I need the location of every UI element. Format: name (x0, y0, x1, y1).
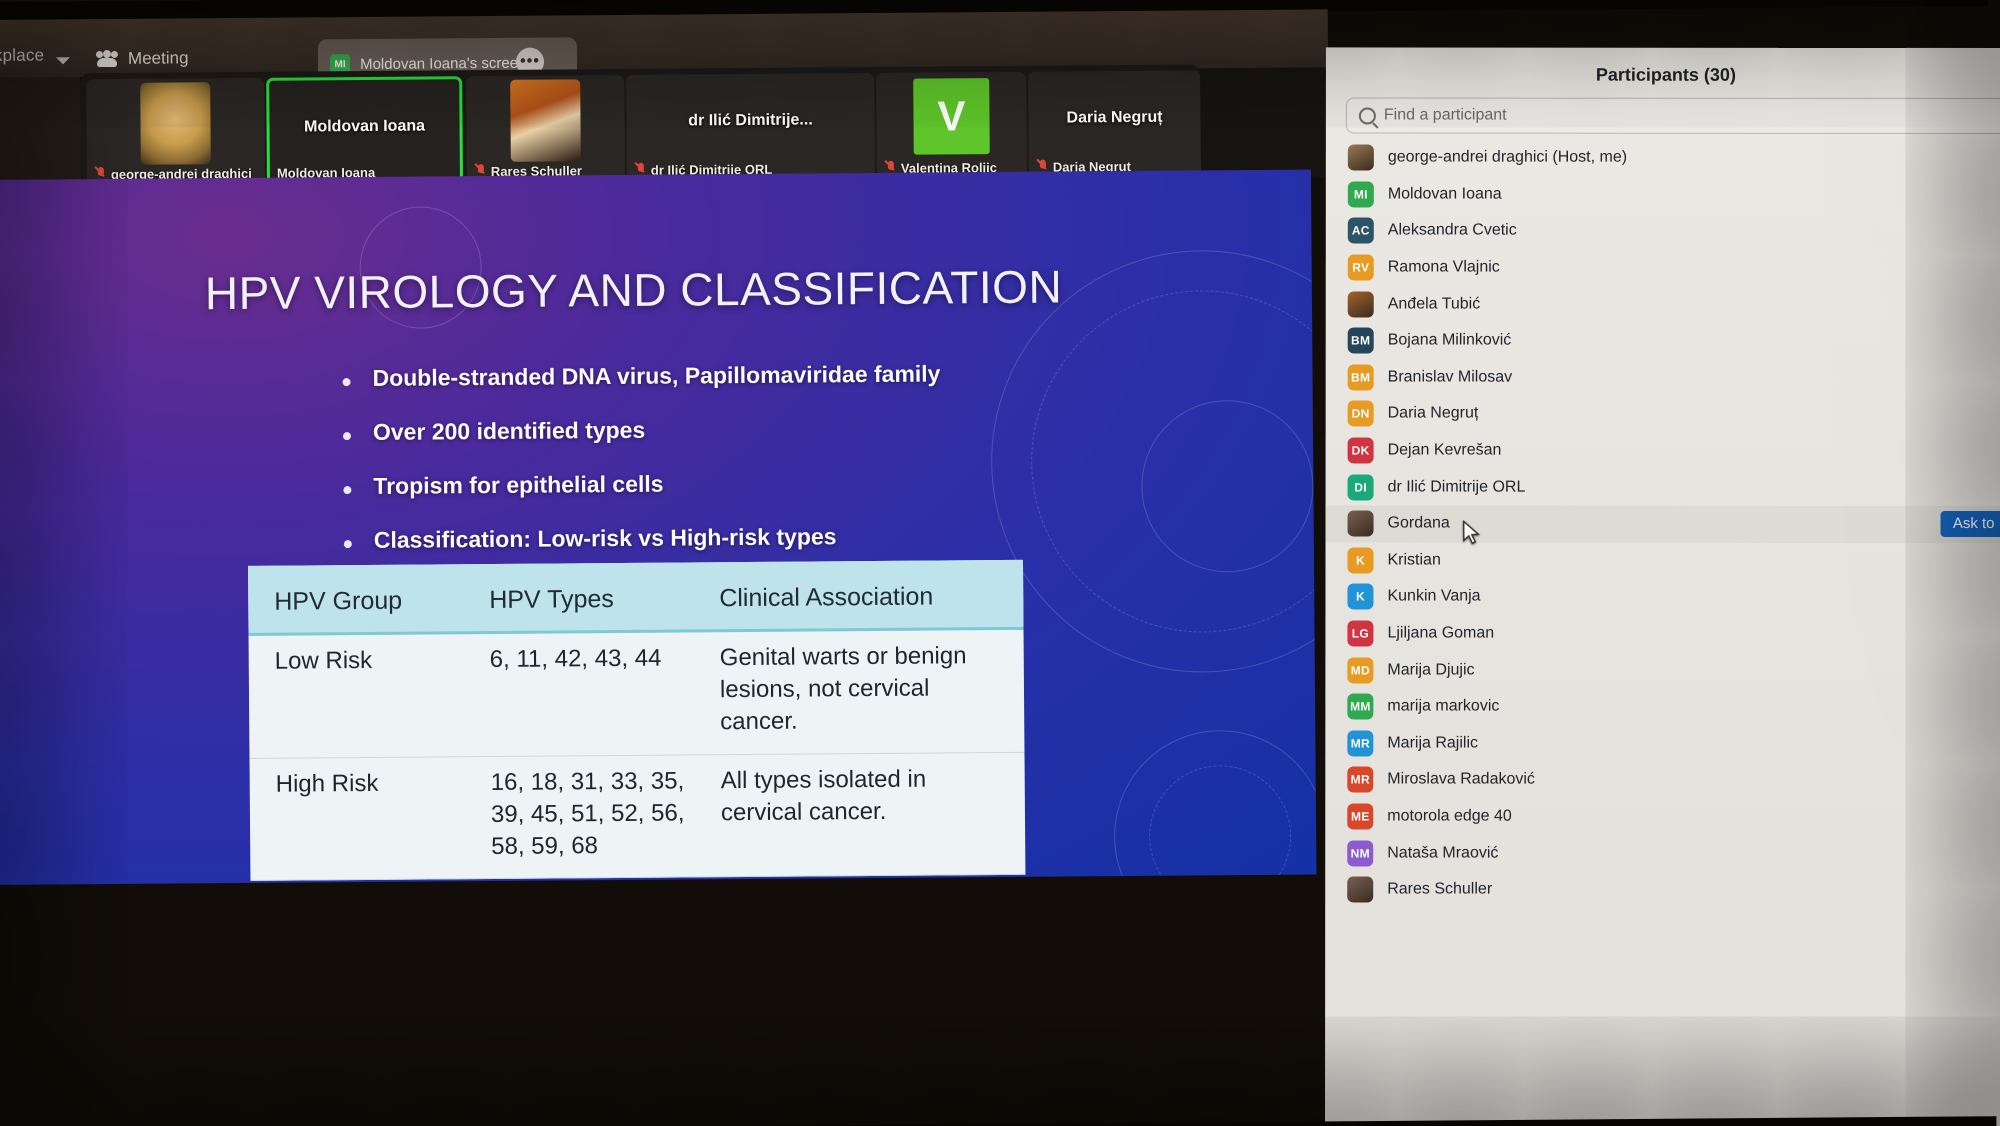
avatar: AC (1348, 218, 1374, 244)
participant-name: marija markovic (1387, 698, 1499, 716)
bullet-text: Tropism for epithelial cells (373, 471, 663, 500)
avatar: DN (1348, 401, 1374, 427)
avatar: LG (1347, 620, 1373, 646)
avatar: MD (1347, 657, 1373, 683)
meeting-tab-label: Meeting (128, 48, 189, 68)
avatar (1348, 145, 1374, 171)
bullet-text: Classification: Low-risk vs High-risk ty… (374, 523, 837, 554)
avatar (1348, 291, 1374, 317)
participant-name: Dejan Kevrešan (1388, 442, 1502, 460)
participant-row[interactable]: BMBranislav Milosav (1326, 359, 2000, 396)
participant-name: Kristian (1387, 551, 1440, 569)
video-tile-center-name: dr Ilić Dimitrije... (626, 111, 874, 131)
participant-name: george-andrei draghici (Host, me) (1388, 149, 1627, 167)
participants-panel: Participants (30) Find a participant geo… (1325, 47, 2000, 1126)
shared-screen-slide: HPV VIROLOGY AND CLASSIFICATION Double-s… (0, 170, 1316, 885)
video-tile-center-name: Moldovan Ioana (269, 117, 459, 136)
participant-row[interactable]: KKunkin Vanja (1325, 579, 2000, 616)
participant-row[interactable]: MIMoldovan Ioana (1326, 176, 2000, 213)
table-header-clinical-association: Clinical Association (719, 582, 997, 613)
participant-name: Kunkin Vanja (1387, 588, 1480, 606)
table-header-hpv-types: HPV Types (489, 584, 719, 615)
strip-right-backdrop (1200, 67, 1331, 178)
meeting-tab[interactable]: Meeting (96, 48, 189, 69)
video-tile-photo (140, 82, 211, 165)
participant-name: Aleksandra Cvetic (1388, 222, 1517, 240)
participant-name: Ljiljana Goman (1387, 624, 1494, 642)
participant-name: Miroslava Radaković (1387, 771, 1535, 789)
avatar: ME (1347, 803, 1373, 829)
table-header-hpv-group: HPV Group (274, 586, 489, 617)
table-header-row: HPV Group HPV Types Clinical Association (248, 560, 1024, 636)
video-tile-photo (510, 79, 581, 162)
participant-name: Marija Rajilic (1387, 734, 1478, 752)
cell-types: 6, 11, 42, 43, 44 (490, 642, 721, 740)
participants-list[interactable]: george-andrei draghici (Host, me)MIMoldo… (1325, 139, 2000, 1126)
participant-row[interactable]: DIdr Ilić Dimitrije ORL (1326, 469, 2000, 506)
participant-row[interactable]: MDMarija Djujic (1325, 652, 2000, 689)
cell-group: High Risk (276, 767, 492, 864)
avatar (1347, 877, 1373, 903)
participant-row[interactable]: KKristian (1325, 542, 2000, 579)
table-row: High Risk 16, 18, 31, 33, 35, 39, 45, 51… (250, 753, 1026, 882)
participant-row[interactable]: ACAleksandra Cvetic (1326, 213, 2000, 250)
bullet-text: Over 200 identified types (373, 417, 645, 446)
slide-bullet-list: Double-stranded DNA virus, Papillomaviri… (342, 360, 942, 581)
avatar: BM (1348, 328, 1374, 354)
participant-row[interactable]: RVRamona Vlajnic (1326, 249, 2000, 286)
strip-left-backdrop (0, 77, 81, 188)
chevron-down-icon[interactable] (56, 57, 70, 64)
bullet-dot (343, 432, 351, 440)
participant-name: dr Ilić Dimitrije ORL (1388, 478, 1526, 496)
cell-association: All types isolated in cervical cancer. (721, 763, 1000, 861)
participant-name: Moldovan Ioana (1388, 185, 1502, 203)
bullet-dot (343, 378, 351, 386)
participant-row[interactable]: LGLjiljana Goman (1325, 615, 2000, 652)
hpv-classification-table: HPV Group HPV Types Clinical Association… (248, 560, 1025, 882)
slide-title: HPV VIROLOGY AND CLASSIFICATION (205, 260, 1063, 321)
video-tile-initial: V (913, 78, 990, 155)
bullet-dot (343, 486, 351, 494)
slide-bullet: Classification: Low-risk vs High-risk ty… (344, 522, 942, 554)
participant-row[interactable]: MEmotorola edge 40 (1325, 798, 2000, 835)
participant-name: motorola edge 40 (1387, 807, 1512, 825)
video-tile-center-name: Daria Negruț (1028, 108, 1200, 127)
avatar: MR (1347, 767, 1373, 793)
participant-row[interactable]: MRMarija Rajilic (1325, 725, 2000, 762)
participant-name: Marija Djujic (1387, 661, 1474, 679)
avatar: MR (1347, 730, 1373, 756)
participant-name: Daria Negruț (1388, 405, 1479, 423)
participant-row[interactable]: MRMiroslava Radaković (1325, 762, 2000, 799)
avatar: RV (1348, 255, 1374, 281)
avatar: K (1347, 547, 1373, 573)
participant-row[interactable]: GordanaAsk to (1326, 505, 2000, 542)
slide-bullet: Over 200 identified types (343, 414, 941, 446)
avatar: BM (1348, 364, 1374, 390)
avatar: MM (1347, 694, 1373, 720)
search-icon (1359, 107, 1376, 124)
avatar: NM (1347, 840, 1373, 866)
bullet-text: Double-stranded DNA virus, Papillomaviri… (372, 360, 940, 391)
participant-row[interactable]: Anđela Tubić (1326, 286, 2000, 323)
avatar: DI (1348, 474, 1374, 500)
bullet-dot (344, 540, 352, 548)
people-icon (96, 51, 118, 67)
slide-bullet: Double-stranded DNA virus, Papillomaviri… (342, 360, 940, 392)
participant-name: Bojana Milinković (1388, 332, 1512, 350)
participant-name: Ramona Vlajnic (1388, 259, 1500, 277)
participant-name: Nataša Mraović (1387, 844, 1498, 862)
cell-types: 16, 18, 31, 33, 35, 39, 45, 51, 52, 56, … (491, 765, 722, 863)
participant-name: Gordana (1388, 515, 1450, 533)
participant-row[interactable]: george-andrei draghici (Host, me) (1326, 139, 2000, 176)
participant-row[interactable]: DKDejan Kevrešan (1326, 432, 2000, 469)
participant-row[interactable]: BMBojana Milinković (1326, 322, 2000, 359)
avatar: MI (1348, 181, 1374, 207)
search-participant-input[interactable]: Find a participant (1346, 97, 2000, 134)
participant-row[interactable]: Rares Schuller (1325, 871, 2000, 908)
ask-to-button[interactable]: Ask to (1941, 511, 2000, 537)
avatar: K (1347, 584, 1373, 610)
participant-row[interactable]: MMmarija markovic (1325, 688, 2000, 725)
participant-name: Anđela Tubić (1388, 295, 1481, 313)
avatar: DK (1348, 437, 1374, 463)
slide-bullet: Tropism for epithelial cells (343, 468, 941, 500)
participant-row[interactable]: DNDaria Negruț (1326, 396, 2000, 433)
hud-circle-inner (1141, 400, 1314, 573)
cell-group: Low Risk (275, 644, 491, 741)
participant-row[interactable]: NMNataša Mraović (1325, 835, 2000, 872)
laptop-bezel-bottom (0, 1116, 1996, 1126)
app-label: rkplace (0, 45, 44, 65)
cell-association: Genital warts or benign lesions, not cer… (720, 640, 999, 738)
table-row: Low Risk 6, 11, 42, 43, 44 Genital warts… (249, 630, 1025, 759)
search-placeholder: Find a participant (1384, 106, 1507, 124)
participants-title: Participants (30) (1516, 65, 1816, 86)
participant-name: Branislav Milosav (1388, 368, 1513, 386)
participant-name: Rares Schuller (1387, 881, 1492, 899)
avatar (1348, 511, 1374, 537)
